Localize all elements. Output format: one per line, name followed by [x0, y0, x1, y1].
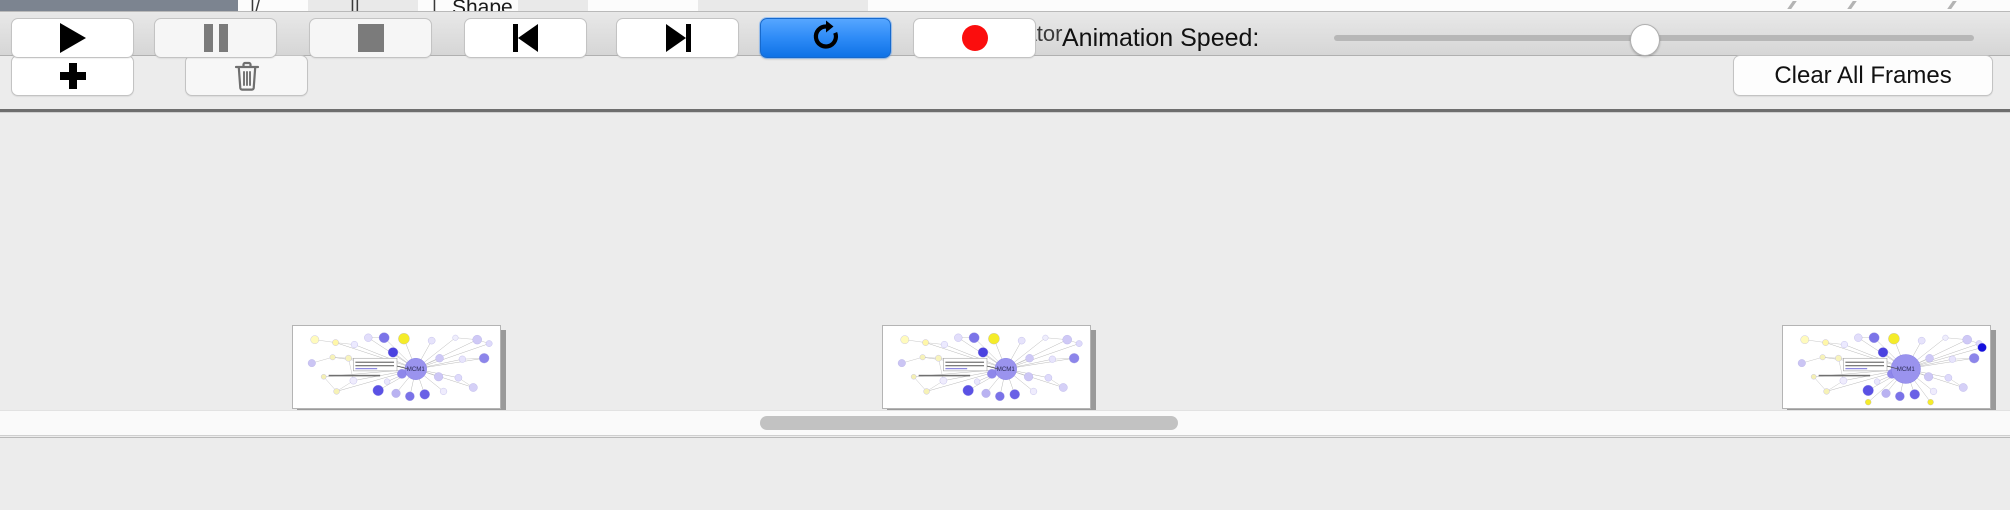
- svg-text:MCM1: MCM1: [997, 366, 1016, 373]
- next-frame-button[interactable]: [616, 18, 739, 58]
- animation-speed-slider[interactable]: [1334, 18, 1974, 58]
- stop-button[interactable]: [309, 18, 432, 58]
- clear-all-frames-label: Clear All Frames: [1774, 62, 1951, 90]
- loop-icon: [811, 20, 841, 57]
- background-window-strip: |/ || | Shape: [0, 0, 2010, 12]
- skip-forward-icon: [665, 24, 691, 52]
- keyframe-network-preview: MCM1: [882, 325, 1091, 409]
- play-button[interactable]: [11, 18, 134, 58]
- animation-speed-slider-thumb[interactable]: [1630, 24, 1660, 56]
- plus-icon: [60, 63, 86, 89]
- delete-frame-button[interactable]: [185, 55, 308, 96]
- previous-frame-button[interactable]: [464, 18, 587, 58]
- timeline-scrollbar-thumb[interactable]: [760, 416, 1178, 430]
- playback-control-bar: [0, 437, 2010, 510]
- record-icon: [962, 25, 988, 51]
- trash-icon: [234, 61, 260, 91]
- skip-back-icon: [513, 24, 539, 52]
- keyframe-thumbnail[interactable]: MCM1: [292, 325, 506, 410]
- keyframe-thumbnail[interactable]: MCM1: [882, 325, 1096, 410]
- pause-icon: [204, 24, 228, 52]
- loop-button[interactable]: [760, 18, 891, 58]
- svg-text:MCM1: MCM1: [407, 366, 426, 373]
- clear-all-frames-button[interactable]: Clear All Frames: [1733, 55, 1993, 96]
- record-button[interactable]: [913, 18, 1036, 58]
- keyframe-network-preview: MCM1: [1782, 325, 1991, 409]
- add-frame-button[interactable]: [11, 55, 134, 96]
- keyframe-thumbnail[interactable]: MCM1: [1782, 325, 1996, 410]
- pause-button[interactable]: [154, 18, 277, 58]
- timeline-panel[interactable]: MCM1MCM1MCM1 12131415161718 Seconds: [0, 113, 2010, 410]
- animation-speed-label: Animation Speed:: [1062, 18, 1259, 58]
- svg-text:MCM1: MCM1: [1897, 366, 1916, 373]
- cyanimator-window: |/ || | Shape CyAnimator Clear All Frame…: [0, 0, 2010, 510]
- keyframe-network-preview: MCM1: [292, 325, 501, 409]
- play-icon: [60, 23, 86, 53]
- stop-icon: [358, 24, 384, 52]
